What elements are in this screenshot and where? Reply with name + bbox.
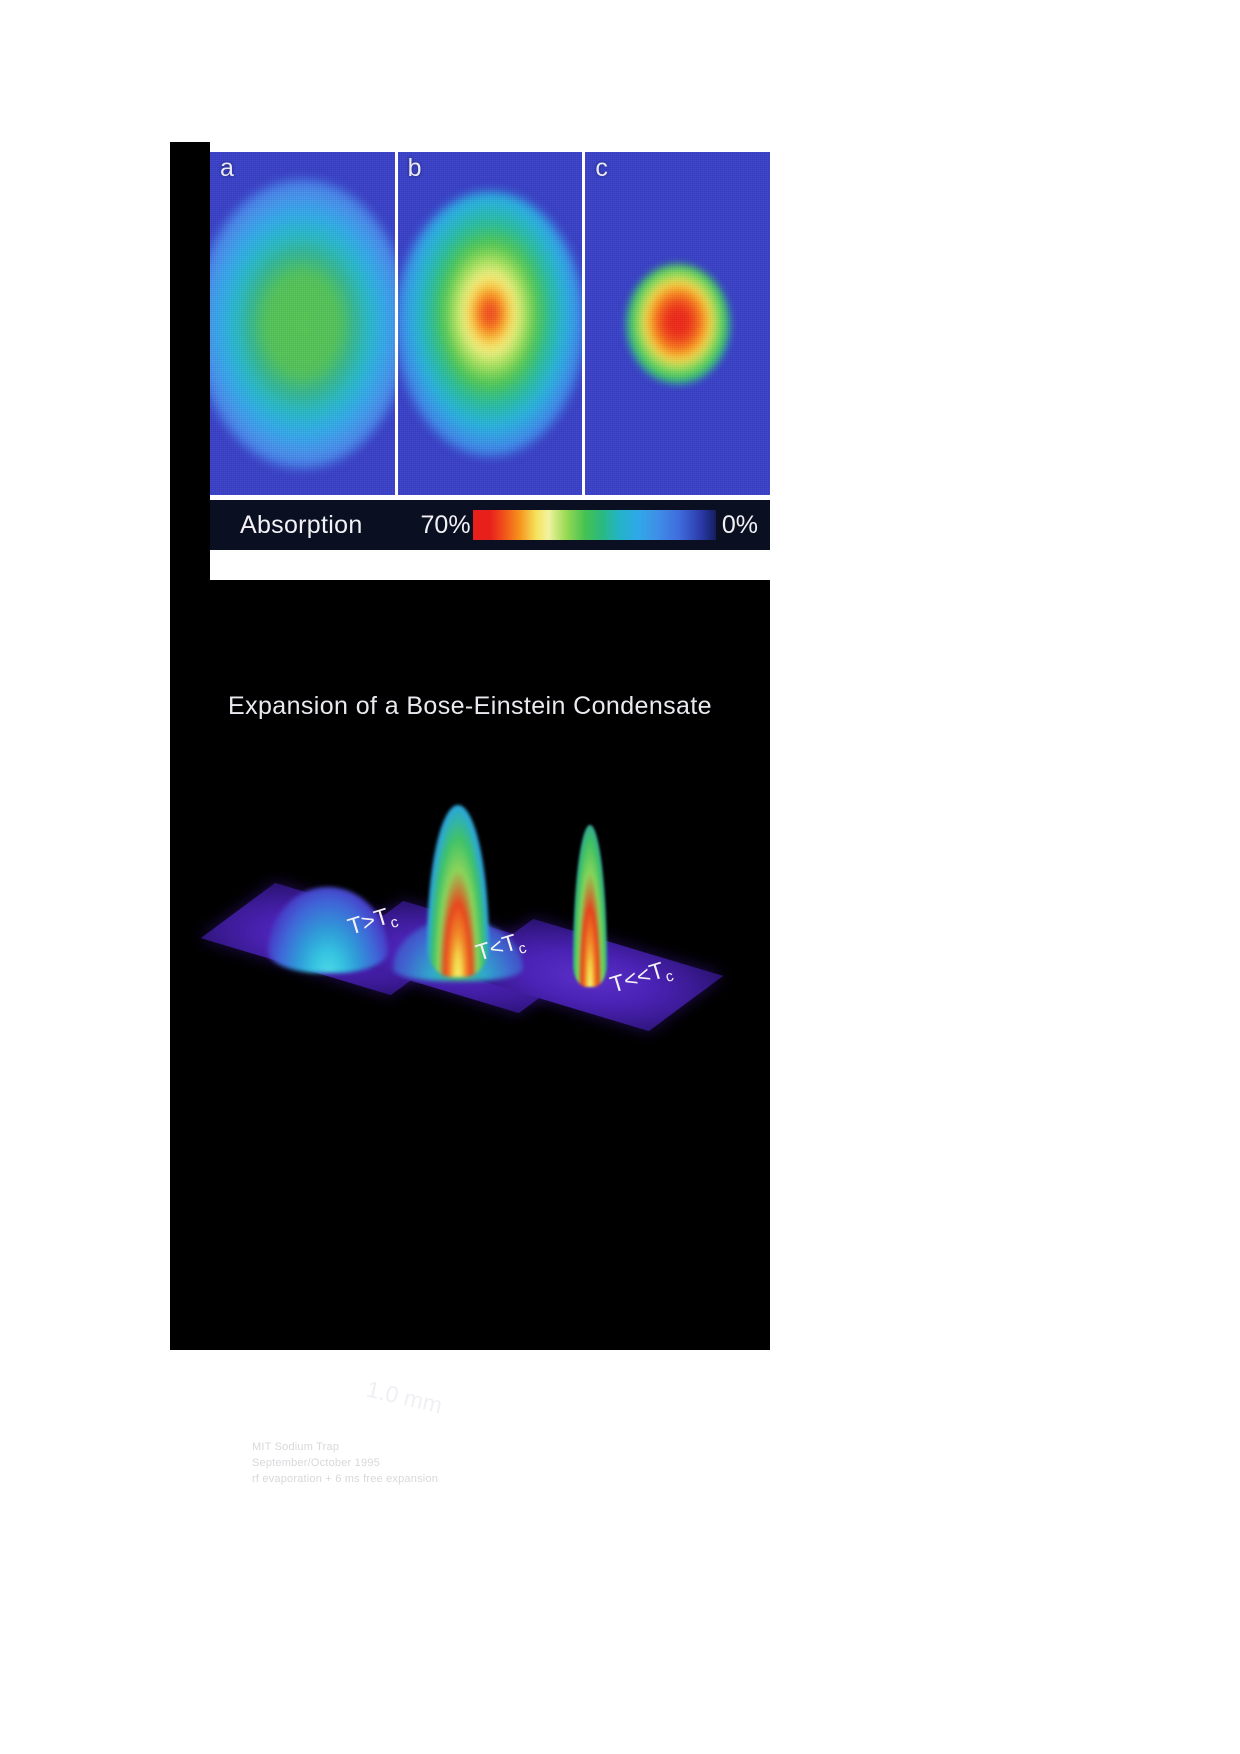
absorption-frames: a b c (210, 152, 770, 495)
absorption-image-panel: a b c Absorption 70% 0% (210, 142, 770, 580)
surface-plot-panel: Expansion of a Bose-Einstein Condensate … (170, 582, 770, 1350)
colorbar-strip: Absorption 70% 0% (210, 500, 770, 550)
cloud-c (626, 264, 730, 384)
frame-letter-b: b (408, 156, 422, 181)
cloud-b (398, 191, 583, 456)
cloud-a (210, 179, 395, 469)
caption-line-1: MIT Sodium Trap (252, 1440, 438, 1456)
absorption-frame-a: a (210, 152, 395, 495)
colorbar-gradient (473, 510, 716, 540)
colorbar-max-label: 70% (421, 511, 471, 540)
density-peak-condensate (573, 825, 607, 987)
caption-line-2: September/October 1995 (252, 1456, 438, 1472)
frame-letter-a: a (220, 156, 234, 181)
panel-white-footer (210, 550, 770, 580)
page-title: Expansion of a Bose-Einstein Condensate (170, 692, 770, 721)
colorbar-title: Absorption (240, 511, 363, 540)
absorption-frame-b: b (398, 152, 583, 495)
figure-caption: MIT Sodium Trap September/October 1995 r… (252, 1440, 438, 1488)
figure-plate: a b c Absorption 70% 0% Expansion of a B… (170, 142, 770, 1350)
frame-letter-c: c (595, 156, 608, 181)
surface-stage: T>Tc T<Tc T<<Tc (170, 747, 770, 1077)
colorbar-min-label: 0% (722, 511, 758, 540)
absorption-frame-c: c (585, 152, 770, 495)
caption-line-3: rf evaporation + 6 ms free expansion (252, 1472, 438, 1488)
